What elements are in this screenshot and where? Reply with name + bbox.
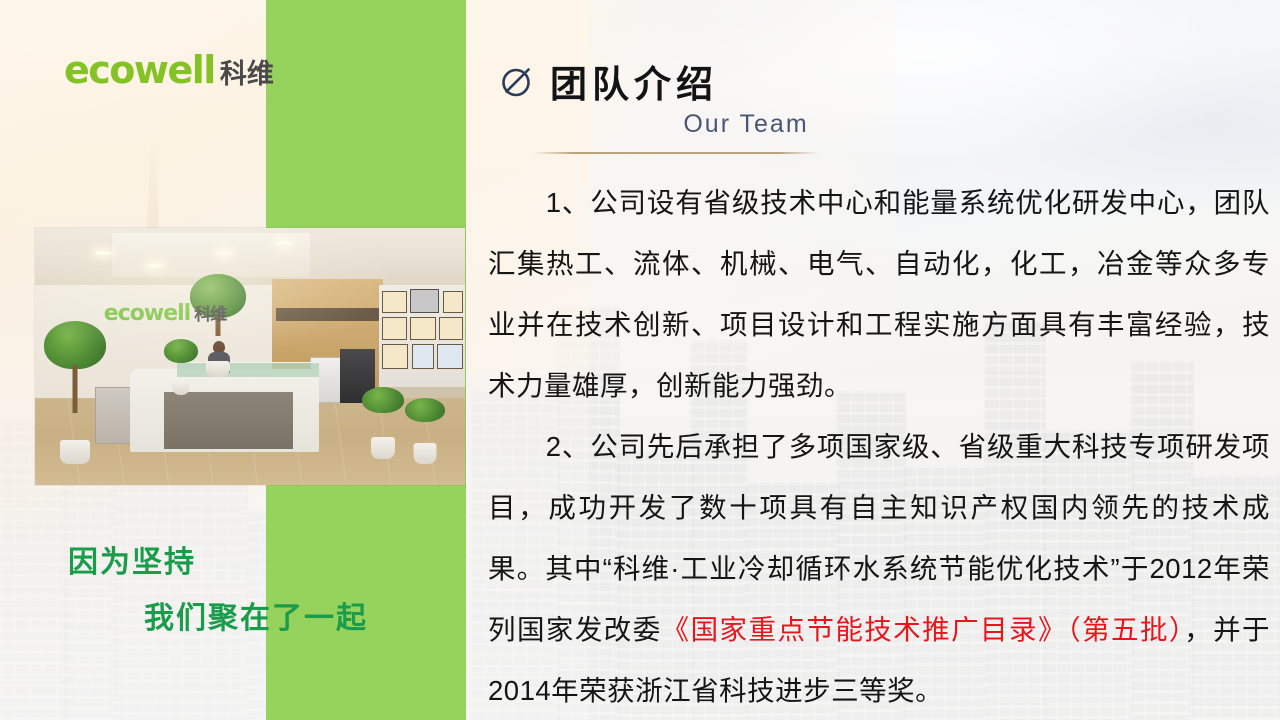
photo-plant-right-2 xyxy=(405,398,445,465)
photo-wall-logo: ecowell科维 xyxy=(104,300,226,326)
paragraph-2: 2、公司先后承担了多项国家级、省级重大科技专项研发项目，成功开发了数十项具有自主… xyxy=(488,416,1270,720)
paragraph-1: 1、公司设有省级技术中心和能量系统优化研发中心，团队汇集热工、流体、机械、电气、… xyxy=(488,172,1270,416)
brand-logo-en: ecowell xyxy=(64,48,215,92)
slogan-line-1: 因为坚持 xyxy=(68,546,196,579)
photo-ceiling-light xyxy=(276,241,292,245)
photo-certificate-wall xyxy=(379,285,465,388)
photo-ceiling-light xyxy=(216,251,232,255)
photo-cabinet-shadow xyxy=(276,308,379,321)
slogan: 因为坚持 我们聚在了一起 xyxy=(68,548,368,634)
paragraph-2-highlight: 《国家重点节能技术推广目录》（第五批） xyxy=(662,614,1184,645)
photo-wall-logo-cn: 科维 xyxy=(194,305,226,325)
brand-logo: ecowell 科维 xyxy=(64,48,274,92)
page-title-row: 团队介绍 xyxy=(499,54,718,108)
photo-ceiling-inset xyxy=(112,233,310,277)
page-subtitle: Our Team xyxy=(466,110,1026,139)
slogan-line-2: 我们聚在了一起 xyxy=(144,604,368,634)
photo-plant-left xyxy=(44,321,106,465)
circle-slash-icon xyxy=(499,63,535,99)
office-reception-photo: ecowell科维 xyxy=(35,228,465,485)
photo-ceiling-light xyxy=(147,264,163,268)
photo-wall-logo-en: ecowell xyxy=(104,301,190,326)
content-pane: 团队介绍 Our Team 1、公司设有省级技术中心和能量系统优化研发中心，团队… xyxy=(466,0,1280,720)
photo-desk-panel xyxy=(164,392,293,449)
photo-plant-desk xyxy=(164,339,198,396)
slide-root: ecowell科维 ecowell 科维 因为坚持 我们聚在了一起 团队介绍 O… xyxy=(0,0,1280,720)
paragraph-2-pre: 2、公司先后承担了多项国家级、省级重大科技专项研发项目，成功开发了数十项具有自主… xyxy=(488,431,1270,645)
title-divider xyxy=(533,152,819,154)
page-title: 团队介绍 xyxy=(550,54,718,108)
brand-logo-cn: 科维 xyxy=(220,52,274,91)
body-text: 1、公司设有省级技术中心和能量系统优化研发中心，团队汇集热工、流体、机械、电气、… xyxy=(488,172,1270,720)
photo-plant-right-1 xyxy=(362,387,404,459)
